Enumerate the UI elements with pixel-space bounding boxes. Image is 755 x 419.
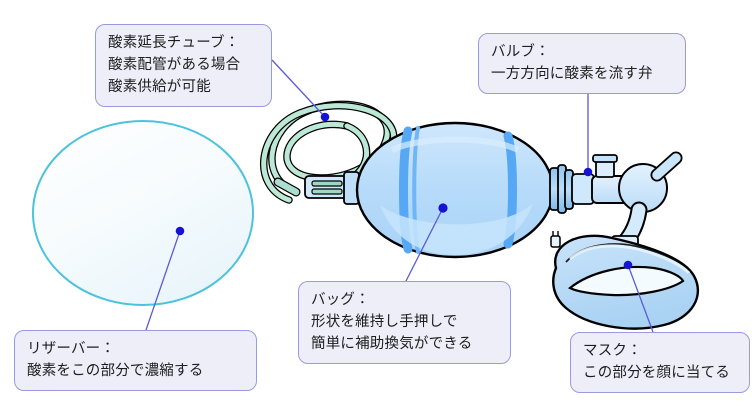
diagram-canvas: 酸素延長チューブ： 酸素配管がある場合 酸素供給が可能 バルブ： 一方方向に酸素… xyxy=(0,0,755,419)
dot-reservoir xyxy=(176,227,185,236)
callout-valve: バルブ： 一方方向に酸素を流す弁 xyxy=(478,33,686,94)
callout-oxygen-tube: 酸素延長チューブ： 酸素配管がある場合 酸素供給が可能 xyxy=(95,24,272,107)
reservoir-body xyxy=(33,121,253,305)
mask-part xyxy=(551,231,698,329)
tube-connector xyxy=(305,172,359,204)
callout-bag: バッグ： 形状を維持し手押しで 簡単に補助換気ができる xyxy=(298,281,511,364)
leader-tube xyxy=(272,60,325,117)
dot-mask xyxy=(624,261,633,270)
dot-tube xyxy=(321,113,330,122)
bag-part xyxy=(357,123,553,257)
reservoir-part xyxy=(33,121,253,305)
dot-bag xyxy=(438,203,447,212)
callout-mask: マスク： この部分を顔に当てる xyxy=(570,332,750,393)
callout-reservoir: リザーバー： 酸素をこの部分で濃縮する xyxy=(14,330,257,391)
dot-valve xyxy=(584,168,593,177)
